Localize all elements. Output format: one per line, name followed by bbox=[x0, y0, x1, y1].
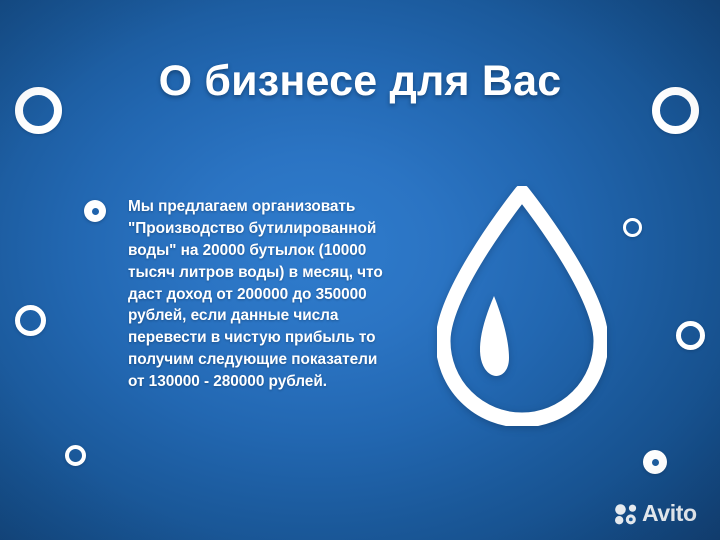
avito-watermark: Avito bbox=[614, 502, 697, 525]
avito-dots-icon bbox=[614, 503, 638, 525]
bullet-donut-icon bbox=[84, 200, 106, 222]
decor-donut-bottom-right bbox=[643, 450, 667, 474]
decor-ring-top-right bbox=[652, 87, 699, 134]
decor-ring-lower-right bbox=[676, 321, 705, 350]
avito-wordmark: Avito bbox=[642, 502, 697, 525]
slide-canvas: О бизнесе для Вас Мы предлагаем организо… bbox=[0, 0, 720, 540]
water-drop-icon bbox=[437, 186, 607, 426]
decor-ring-mid-right bbox=[623, 218, 642, 237]
decor-ring-bottom-left bbox=[65, 445, 86, 466]
decor-ring-top-left bbox=[15, 87, 62, 134]
bullet-list-item: Мы предлагаем организовать "Производство… bbox=[80, 196, 390, 393]
decor-ring-mid-left bbox=[15, 305, 46, 336]
page-title: О бизнесе для Вас bbox=[0, 57, 720, 106]
body-paragraph: Мы предлагаем организовать "Производство… bbox=[80, 196, 390, 393]
